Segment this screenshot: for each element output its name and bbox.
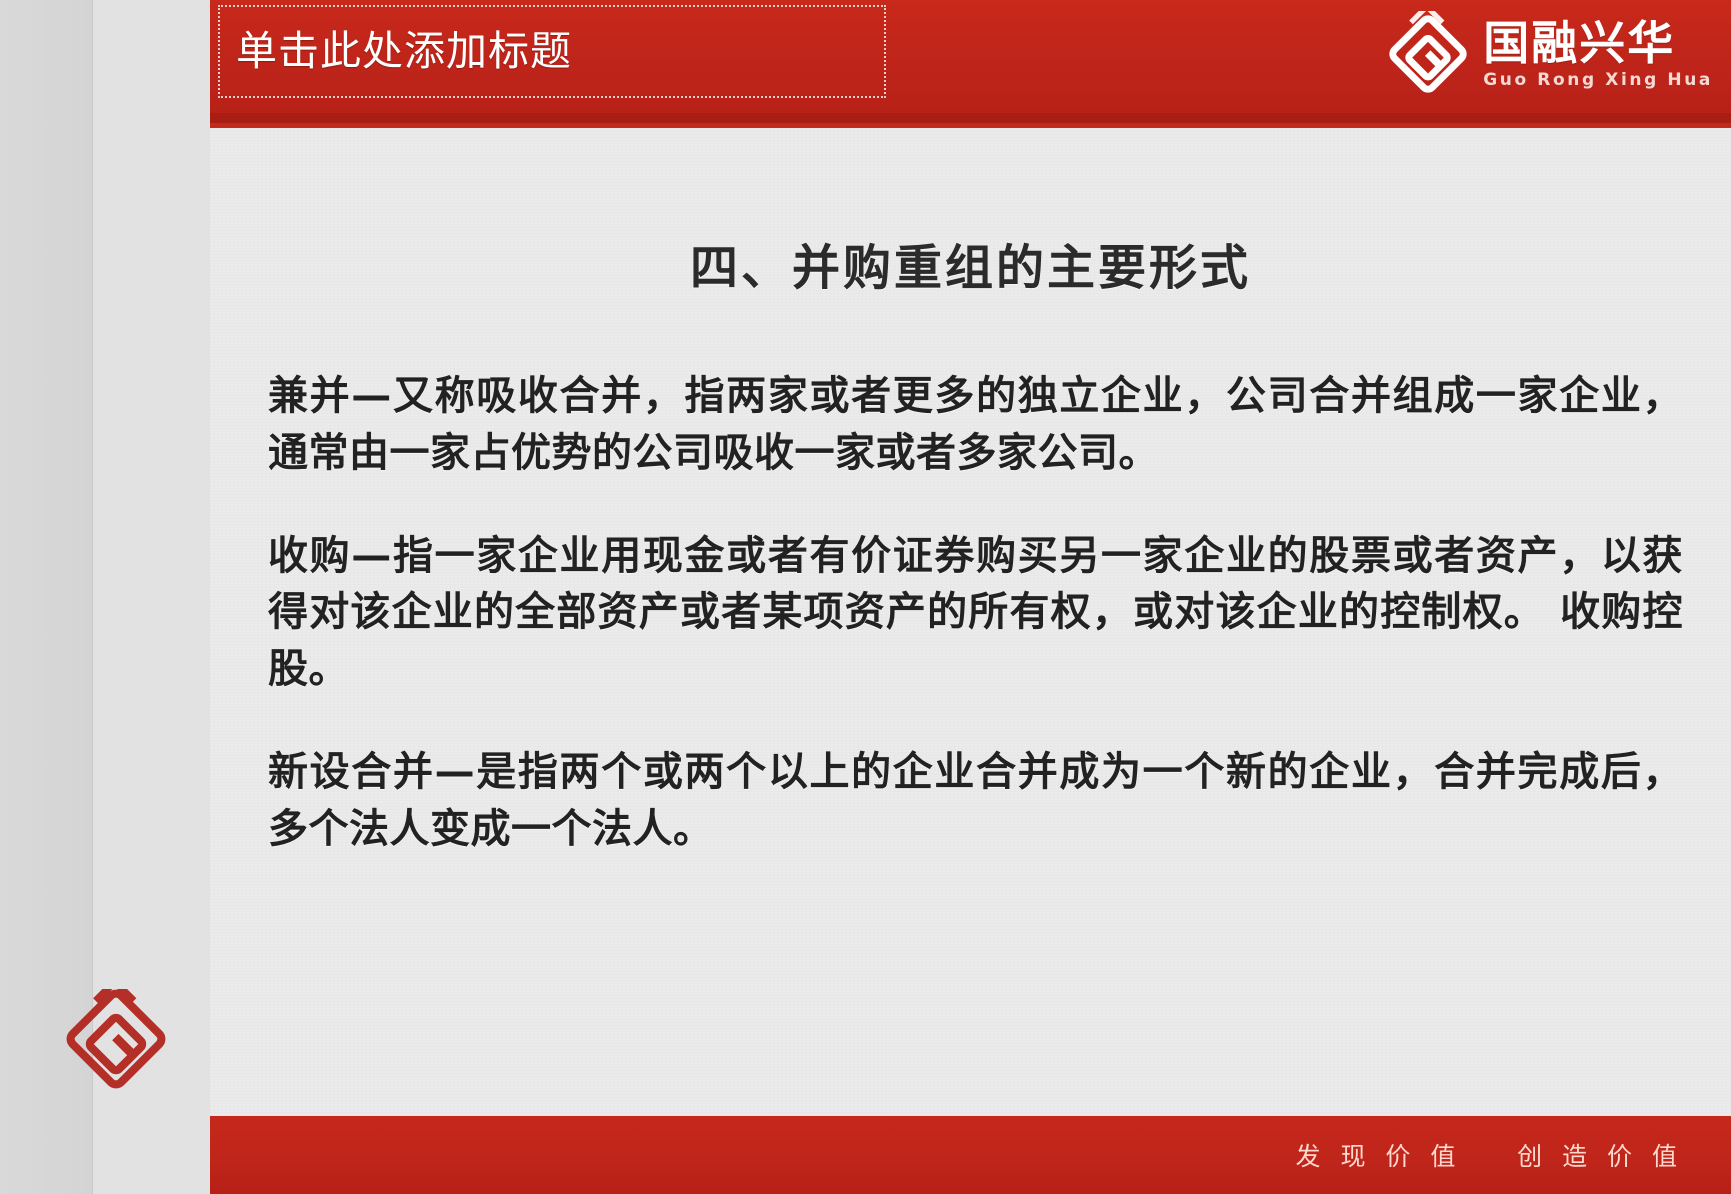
section-heading: 四、并购重组的主要形式	[210, 228, 1731, 298]
slide-header-band: 单击此处添加标题 国融兴华 Guo Rong Xing Hu	[210, 0, 1731, 113]
header-underline	[210, 113, 1731, 123]
title-placeholder-box[interactable]: 单击此处添加标题	[218, 5, 886, 98]
brand-logo: 国融兴华 Guo Rong Xing Hua	[1385, 8, 1713, 100]
paragraph-consolidation: 新设合并—是指两个或两个以上的企业合并成为一个新的企业，合并完成后，多个法人变成…	[268, 744, 1683, 858]
guorong-diamond-g-logo-icon	[1385, 11, 1471, 97]
footer-tagline: 发 现 价 值 创 造 价 值	[1296, 1137, 1731, 1173]
paragraph-acquisition: 收购—指一家企业用现金或者有价证券购买另一家企业的股票或者资产，以获得对该企业的…	[268, 528, 1683, 698]
slide-viewer: 单击此处添加标题 国融兴华 Guo Rong Xing Hu	[0, 0, 1731, 1194]
brand-chinese-name: 国融兴华	[1483, 20, 1713, 66]
editor-left-rail	[0, 0, 211, 1194]
brand-pinyin: Guo Rong Xing Hua	[1483, 72, 1713, 89]
slide-footer-band: 发 现 价 值 创 造 价 值	[210, 1116, 1731, 1194]
slide-canvas: 单击此处添加标题 国融兴华 Guo Rong Xing Hu	[210, 0, 1731, 1194]
brand-wordmark: 国融兴华 Guo Rong Xing Hua	[1483, 20, 1713, 89]
content-block: 兼并—又称吸收合并，指两家或者更多的独立企业，公司合并组成一家企业，通常由一家占…	[268, 368, 1683, 858]
title-placeholder-text: 单击此处添加标题	[220, 31, 572, 72]
slide-body: 四、并购重组的主要形式 兼并—又称吸收合并，指两家或者更多的独立企业，公司合并组…	[210, 128, 1731, 1116]
guorong-diamond-g-watermark-icon	[62, 989, 170, 1089]
paragraph-merger: 兼并—又称吸收合并，指两家或者更多的独立企业，公司合并组成一家企业，通常由一家占…	[268, 368, 1683, 482]
